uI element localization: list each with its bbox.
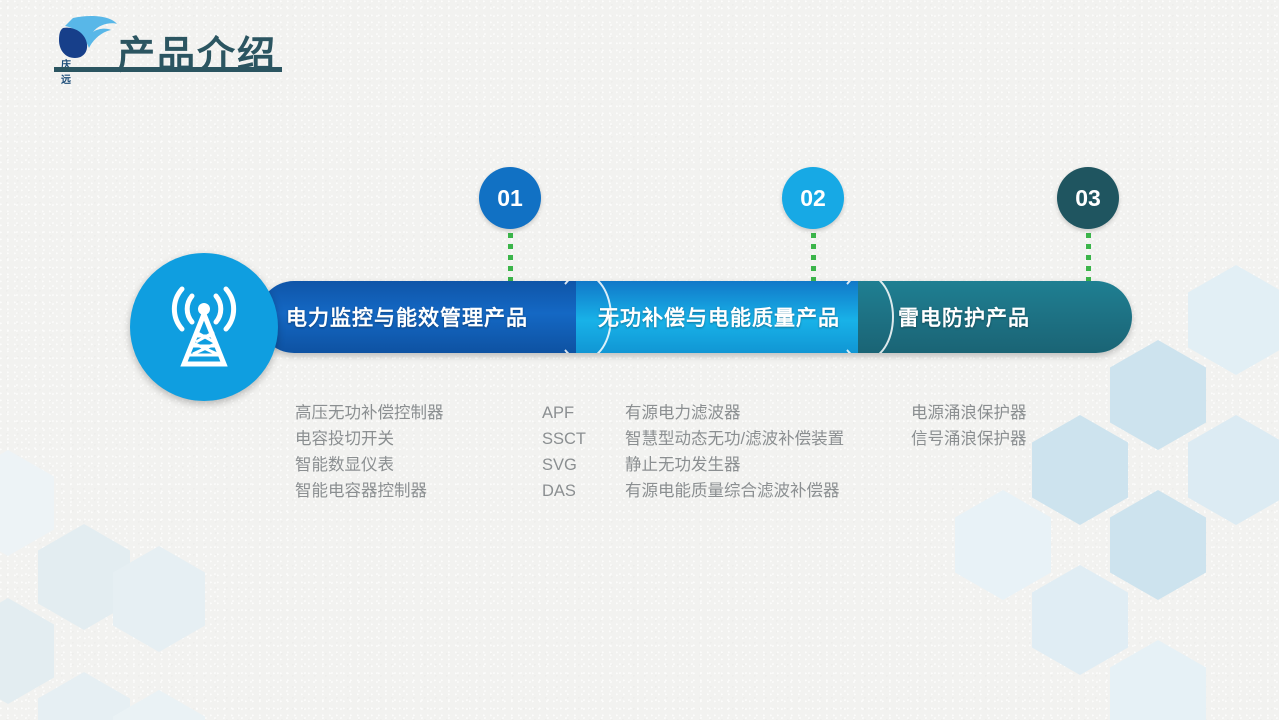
radio-tower-badge[interactable] <box>130 253 278 401</box>
hexagon-shape <box>1110 340 1206 450</box>
hexagon-shape <box>113 546 205 652</box>
hexagon-shape <box>1188 415 1279 525</box>
list-item: APF <box>542 400 586 426</box>
connector-dots-02 <box>811 233 816 281</box>
banner-segment-2-label: 无功补偿与电能质量产品 <box>598 281 840 353</box>
hexagon-shape <box>1188 265 1279 375</box>
hexagon-shape <box>38 672 130 720</box>
product-list-column-3: 有源电力滤波器 智慧型动态无功/滤波补偿装置 静止无功发生器 有源电能质量综合滤… <box>625 400 844 504</box>
banner-segment-3-label: 雷电防护产品 <box>898 281 1030 353</box>
list-item: 智能电容器控制器 <box>295 478 444 504</box>
hexagon-shape <box>113 690 205 720</box>
radio-tower-icon <box>162 286 246 368</box>
list-item: 有源电能质量综合滤波补偿器 <box>625 478 844 504</box>
list-item: 静止无功发生器 <box>625 452 844 478</box>
badge-01-number: 01 <box>497 185 523 212</box>
list-item: SVG <box>542 452 586 478</box>
list-item: 电容投切开关 <box>295 426 444 452</box>
list-item: 智能数显仪表 <box>295 452 444 478</box>
hexagon-shape <box>955 490 1051 600</box>
hexagon-shape <box>38 524 130 630</box>
list-item: 电源涌浪保护器 <box>911 400 1027 426</box>
list-item: 高压无功补偿控制器 <box>295 400 444 426</box>
hexagon-shape <box>1110 490 1206 600</box>
badge-03-number: 03 <box>1075 185 1101 212</box>
product-list-column-1: 高压无功补偿控制器 电容投切开关 智能数显仪表 智能电容器控制器 <box>295 400 444 504</box>
list-item: 有源电力滤波器 <box>625 400 844 426</box>
hexagon-shape <box>1110 640 1206 720</box>
title-underline <box>54 67 282 72</box>
connector-dots-03 <box>1086 233 1091 281</box>
badge-03[interactable]: 03 <box>1057 167 1119 229</box>
category-banner: 电力监控与能效管理产品 无功补偿与电能质量产品 雷电防护产品 <box>258 281 1132 353</box>
hexagon-shape <box>1032 565 1128 675</box>
connector-dots-01 <box>508 233 513 281</box>
qingyuan-logo-icon <box>55 14 121 62</box>
product-list-column-4: 电源涌浪保护器 信号涌浪保护器 <box>911 400 1027 452</box>
hexagon-shape <box>1032 415 1128 525</box>
product-list-column-2: APF SSCT SVG DAS <box>542 400 586 504</box>
list-item: DAS <box>542 478 586 504</box>
badge-01[interactable]: 01 <box>479 167 541 229</box>
hexagon-shape <box>0 450 54 556</box>
list-item: SSCT <box>542 426 586 452</box>
list-item: 智慧型动态无功/滤波补偿装置 <box>625 426 844 452</box>
badge-02-number: 02 <box>800 185 826 212</box>
hexagon-shape <box>0 598 54 704</box>
segment-divider-arc-2 <box>836 281 894 353</box>
banner-segment-1-label: 电力监控与能效管理产品 <box>286 281 528 353</box>
slide-canvas: 庆远 产品介绍 01 02 03 电力监控与能效管理产品 无功补偿与电能质量产品… <box>0 0 1279 720</box>
list-item: 信号涌浪保护器 <box>911 426 1027 452</box>
badge-02[interactable]: 02 <box>782 167 844 229</box>
